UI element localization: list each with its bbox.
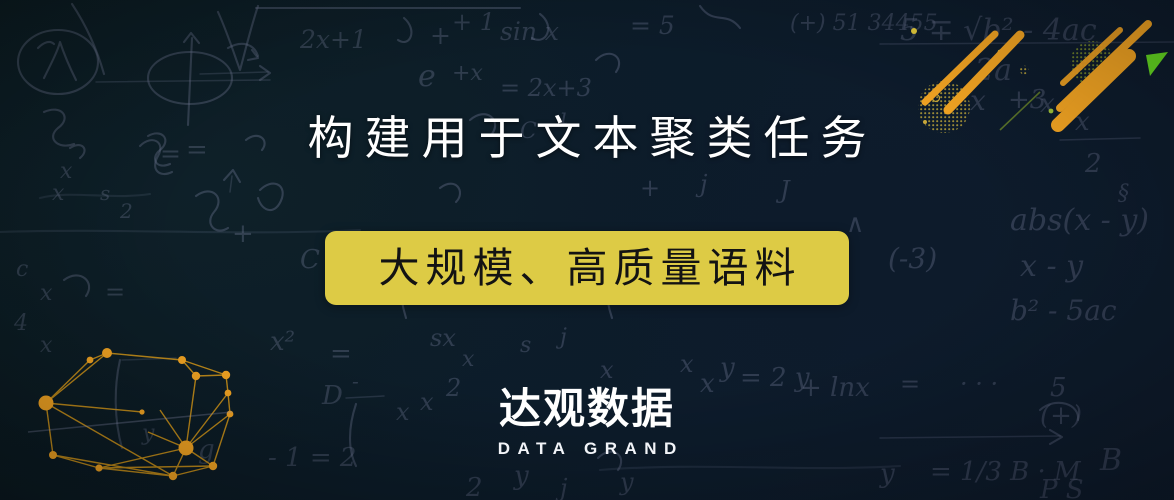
brand-logo: 达观数据 DATA GRAND [0, 385, 1174, 461]
content-layer: 构建用于文本聚类任务 大规模、高质量语料 达观数据 DATA GRAND [0, 0, 1174, 500]
brand-name-en: DATA GRAND [0, 437, 1174, 461]
brand-name-cn: 达观数据 [0, 385, 1174, 433]
highlight-banner-label: 大规模、高质量语料 [373, 248, 802, 289]
promo-banner: 2x+1 + sin x = 5 (+) 51 34455 x x [0, 0, 1174, 500]
page-title: 构建用于文本聚类任务 [0, 108, 1174, 168]
highlight-banner-wrap: 大规模、高质量语料 [0, 231, 1174, 305]
highlight-banner: 大规模、高质量语料 [325, 231, 849, 305]
